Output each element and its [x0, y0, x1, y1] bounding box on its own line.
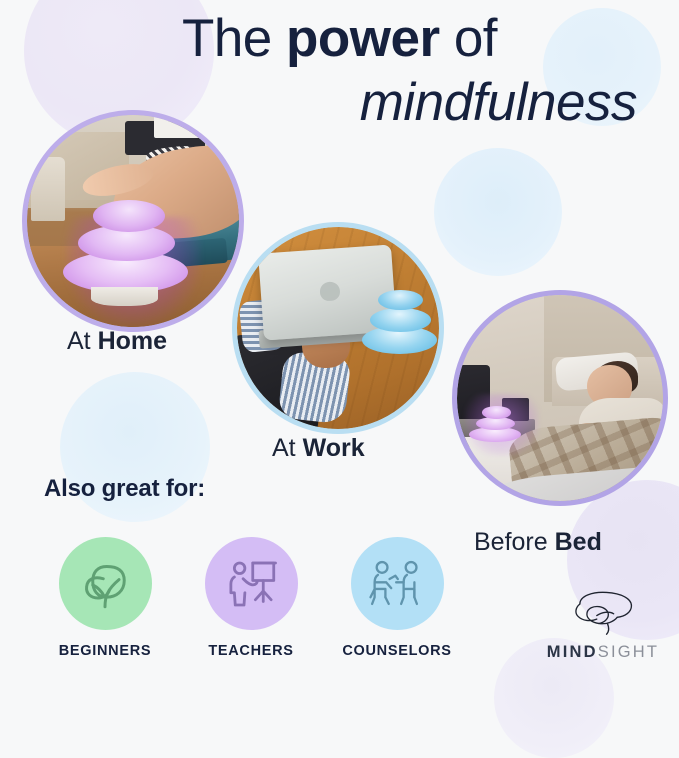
category-label-counselors: COUNSELORS	[342, 643, 451, 659]
also-great-for-heading: Also great for:	[44, 475, 205, 503]
category-beginners[interactable]: BEGINNERS	[32, 537, 178, 659]
category-label-teachers: TEACHERS	[208, 643, 293, 659]
caption-at-work-plain: At	[272, 434, 303, 462]
photo-before-bed-image	[457, 295, 663, 501]
headline-line-1: The power of	[0, 8, 679, 70]
caption-before-bed: Before Bed	[474, 528, 602, 557]
bed-stone-top	[482, 406, 511, 418]
category-counselors[interactable]: COUNSELORS	[324, 537, 470, 659]
work-scene	[237, 227, 439, 429]
photo-at-work	[232, 222, 444, 434]
work-stone-middle	[370, 308, 431, 332]
home-stone-pedestal	[91, 287, 159, 306]
caption-before-bed-bold: Bed	[555, 528, 602, 556]
home-paper	[154, 115, 201, 138]
bed-scene	[457, 295, 663, 501]
photo-at-home	[22, 110, 244, 332]
caption-at-home-bold: Home	[98, 327, 167, 355]
caption-before-bed-plain: Before	[474, 528, 555, 556]
caption-at-home-plain: At	[67, 327, 98, 355]
leaf-icon	[59, 537, 152, 630]
caption-at-work-bold: Work	[303, 434, 365, 462]
bokeh-upper-right	[434, 148, 562, 276]
caption-at-work: At Work	[272, 434, 365, 463]
brain-outline-icon	[557, 588, 649, 641]
presenter-icon	[205, 537, 298, 630]
headline-text-power: power	[286, 9, 440, 68]
photo-at-home-image	[27, 115, 239, 327]
home-scene	[27, 115, 239, 327]
home-lamp-base	[31, 157, 65, 221]
headline-text-of: of	[440, 9, 497, 68]
category-list: BEGINNERS TEACHERS	[32, 537, 472, 659]
category-label-beginners: BEGINNERS	[59, 643, 152, 659]
category-teachers[interactable]: TEACHERS	[178, 537, 324, 659]
home-stone-top	[93, 200, 165, 232]
photo-at-work-image	[237, 227, 439, 429]
work-stone-top	[378, 290, 422, 310]
headline-text-the: The	[182, 9, 286, 68]
brand-logo: MINDSIGHT	[538, 588, 668, 662]
work-laptop-logo	[319, 281, 340, 301]
brand-logo-mind: MIND	[547, 643, 598, 661]
counseling-icon	[351, 537, 444, 630]
photo-before-bed	[452, 290, 668, 506]
brand-logo-sight: SIGHT	[598, 643, 659, 661]
brand-logo-text: MINDSIGHT	[547, 643, 659, 662]
caption-at-home: At Home	[67, 327, 167, 356]
